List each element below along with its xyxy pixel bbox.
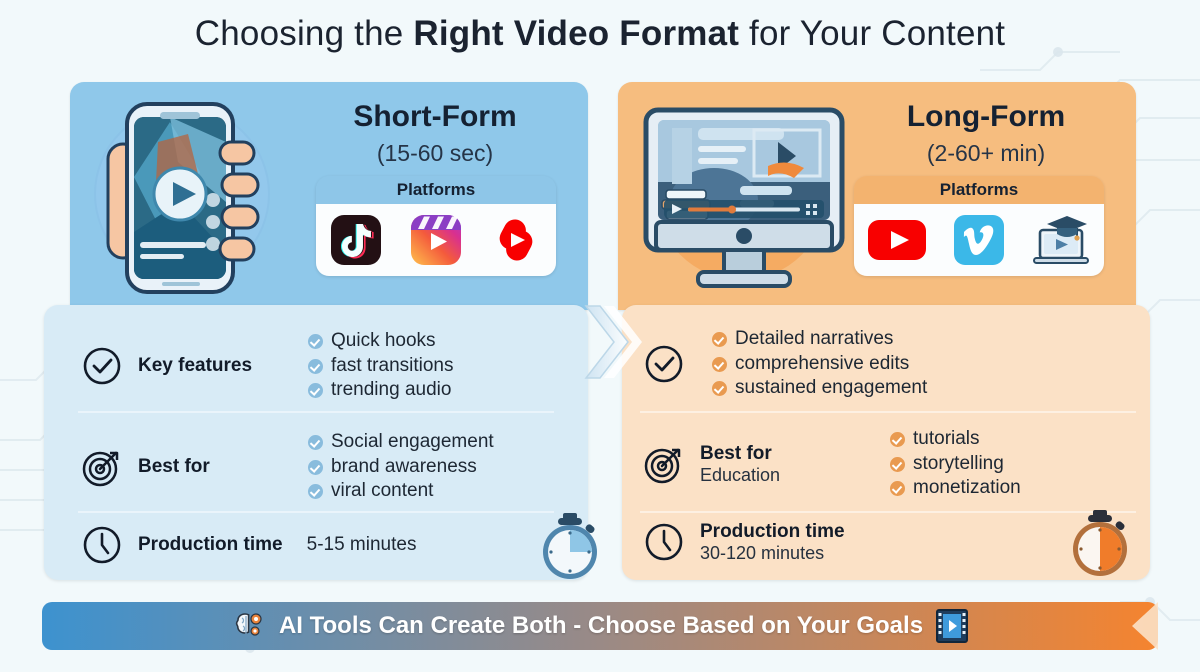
- bullet-text: Social engagement: [331, 430, 494, 455]
- check-circle-icon: [642, 342, 686, 386]
- row-best-for-long: Best for Education tutorials storytellin…: [642, 427, 1142, 501]
- check-circle-icon: [80, 344, 124, 388]
- bullet-text: tutorials: [913, 427, 980, 452]
- chevron-right-icon: [584, 298, 646, 386]
- check-badge-icon: [890, 432, 905, 447]
- stopwatch-short-icon: [532, 507, 608, 583]
- list-item: storytelling: [890, 452, 1021, 477]
- list-item: Quick hooks: [308, 329, 454, 354]
- row-sublabel-text: Education: [700, 465, 890, 485]
- title-after: for Your Content: [739, 14, 1005, 53]
- check-badge-icon: [308, 460, 323, 475]
- row-divider: [78, 411, 554, 413]
- check-badge-icon: [308, 359, 323, 374]
- clock-icon: [80, 523, 124, 567]
- list-item: brand awareness: [308, 455, 494, 480]
- row-production-time-long: Production time 30-120 minutes: [642, 520, 1142, 564]
- list-item: trending audio: [308, 378, 454, 403]
- bullet-text: monetization: [913, 476, 1021, 501]
- title-highlight: Right Video Format: [413, 14, 739, 53]
- target-icon: [80, 445, 124, 489]
- bullet-text: fast transitions: [331, 354, 454, 379]
- check-badge-icon: [712, 357, 727, 372]
- summary-banner: AI Tools Can Create Both - Choose Based …: [42, 602, 1158, 650]
- row-label-text: Production time: [700, 521, 845, 542]
- production-time-value: 30-120 minutes: [700, 543, 845, 563]
- youtube-icon[interactable]: [866, 216, 928, 264]
- check-badge-icon: [712, 381, 727, 396]
- short-form-duration: (15-60 sec): [285, 140, 585, 167]
- platforms-label: Platforms: [854, 176, 1104, 204]
- page-title: Choosing the Right Video Format for Your…: [0, 14, 1200, 54]
- check-badge-icon: [308, 484, 323, 499]
- platforms-label: Platforms: [316, 176, 556, 204]
- bullet-text: Detailed narratives: [735, 327, 893, 352]
- check-badge-icon: [308, 435, 323, 450]
- row-divider: [640, 411, 1136, 413]
- bullet-list: Social engagement brand awareness viral …: [308, 430, 494, 504]
- instagram-reels-icon[interactable]: [409, 213, 463, 267]
- list-item: tutorials: [890, 427, 1021, 452]
- production-time-value: 5-15 minutes: [307, 534, 417, 556]
- list-item: sustained engagement: [712, 376, 927, 401]
- banner-text: AI Tools Can Create Both - Choose Based …: [279, 612, 923, 640]
- list-item: viral content: [308, 479, 494, 504]
- short-form-title: Short-Form: [285, 100, 585, 134]
- row-label-text: Key features: [138, 355, 252, 376]
- bullet-list: Detailed narratives comprehensive edits …: [712, 327, 927, 401]
- list-item: fast transitions: [308, 354, 454, 379]
- long-form-platforms: Platforms: [854, 176, 1104, 276]
- film-play-icon: [935, 608, 969, 644]
- list-item: monetization: [890, 476, 1021, 501]
- bullet-text: viral content: [331, 479, 433, 504]
- long-form-duration: (2-60+ min): [836, 140, 1136, 167]
- hand-holding-phone-icon: [70, 82, 285, 310]
- bullet-text: storytelling: [913, 452, 1004, 477]
- list-item: comprehensive edits: [712, 352, 927, 377]
- long-form-title: Long-Form: [836, 100, 1136, 134]
- check-badge-icon: [712, 332, 727, 347]
- row-production-time-short: Production time 5-15 minutes: [80, 523, 580, 567]
- youtube-shorts-icon[interactable]: [489, 213, 543, 267]
- row-label-text: Best for: [700, 443, 772, 464]
- row-divider: [78, 511, 554, 513]
- row-key-features-long: Detailed narratives comprehensive edits …: [642, 327, 1122, 401]
- short-form-platforms: Platforms: [316, 176, 556, 276]
- short-form-card-body: Key features Quick hooks fast transition…: [44, 305, 588, 580]
- infographic-canvas: Choosing the Right Video Format for Your…: [0, 0, 1200, 672]
- short-form-card-header: Short-Form (15-60 sec) Platforms: [70, 82, 588, 310]
- row-label-text: Production time: [138, 534, 283, 555]
- bullet-text: brand awareness: [331, 455, 477, 480]
- check-badge-icon: [890, 457, 905, 472]
- row-label-text: Best for: [138, 456, 210, 477]
- online-course-icon[interactable]: [1030, 212, 1092, 268]
- row-key-features-short: Key features Quick hooks fast transition…: [80, 329, 550, 403]
- bullet-text: Quick hooks: [331, 329, 436, 354]
- check-badge-icon: [890, 481, 905, 496]
- bullet-text: sustained engagement: [735, 376, 927, 401]
- clock-icon: [642, 520, 686, 564]
- long-form-card-header: Long-Form (2-60+ min) Platforms: [618, 82, 1136, 310]
- title-before: Choosing the: [195, 14, 414, 53]
- bullet-list: Quick hooks fast transitions trending au…: [308, 329, 454, 403]
- bullet-text: comprehensive edits: [735, 352, 909, 377]
- list-item: Detailed narratives: [712, 327, 927, 352]
- check-badge-icon: [308, 334, 323, 349]
- vimeo-icon[interactable]: [952, 213, 1006, 267]
- desktop-monitor-video-icon: [628, 82, 858, 310]
- brain-gears-icon: [231, 608, 267, 644]
- tiktok-icon[interactable]: [329, 213, 383, 267]
- check-badge-icon: [308, 383, 323, 398]
- list-item: Social engagement: [308, 430, 494, 455]
- row-best-for-short: Best for Social engagement brand awarene…: [80, 430, 550, 504]
- long-form-card-body: Detailed narratives comprehensive edits …: [622, 305, 1150, 580]
- stopwatch-long-icon: [1062, 504, 1138, 580]
- bullet-text: trending audio: [331, 378, 451, 403]
- target-icon: [642, 442, 686, 486]
- bullet-list: tutorials storytelling monetization: [890, 427, 1021, 501]
